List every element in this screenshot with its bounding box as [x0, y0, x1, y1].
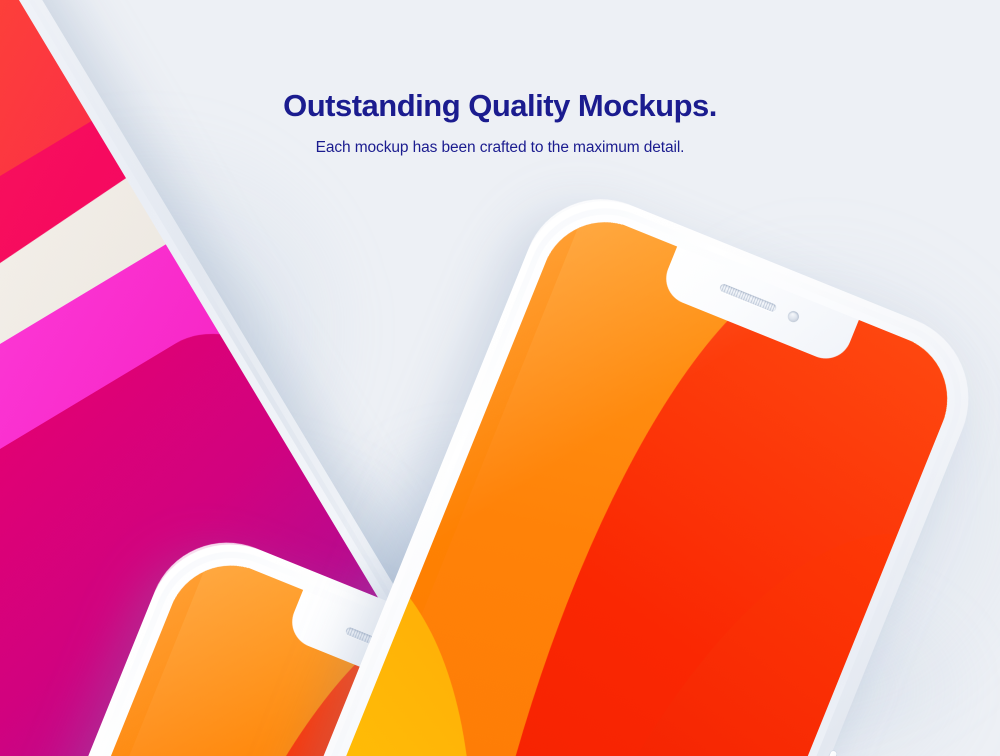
page-title: Outstanding Quality Mockups. [0, 88, 1000, 125]
page-subtitle: Each mockup has been crafted to the maxi… [0, 138, 1000, 157]
headline-block: Outstanding Quality Mockups. Each mockup… [0, 88, 1000, 157]
mockup-showcase-canvas: Outstanding Quality Mockups. Each mockup… [0, 0, 1000, 756]
